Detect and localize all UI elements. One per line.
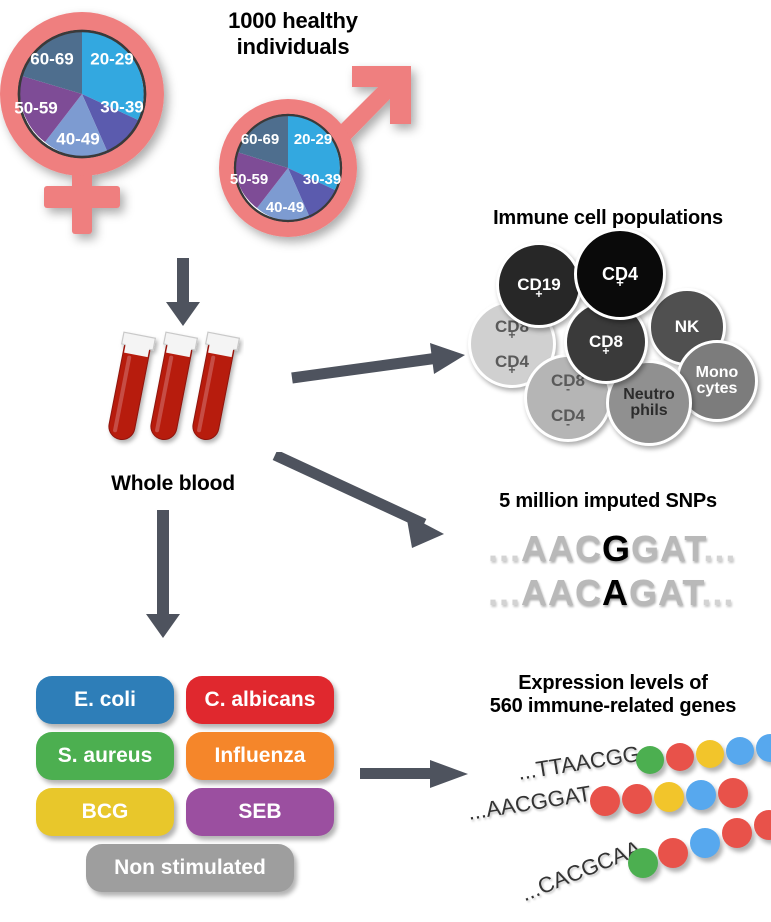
- expression-bead: [696, 740, 724, 768]
- male-pie-label-30-39: 30-39: [303, 171, 341, 188]
- snps-heading: 5 million imputed SNPs: [452, 490, 764, 513]
- immune-cell-label: CD8-CD4-: [551, 372, 585, 424]
- female-symbol: 20-29 30-39 40-49 50-59 60-69: [4, 8, 214, 238]
- snp-leading-dots: ...: [488, 528, 521, 569]
- immune-cell-label: NK: [675, 318, 700, 335]
- snp-right-bases: GAT: [631, 528, 703, 569]
- expression-strand-sequence: ...CACGCAA: [517, 835, 645, 907]
- immune-cell-cd4: CD4+: [574, 228, 666, 320]
- stimulus-c-albicans[interactable]: C. albicans: [186, 676, 334, 724]
- immune-heading: Immune cell populations: [452, 207, 764, 230]
- whole-blood-label: Whole blood: [78, 472, 268, 496]
- male-pie-label-40-49: 40-49: [266, 199, 304, 216]
- expression-bead: [718, 778, 748, 808]
- stimulus-s-aureus[interactable]: S. aureus: [36, 732, 174, 780]
- expression-bead: [686, 780, 716, 810]
- snp-trailing-dots: ...: [703, 528, 736, 569]
- snp-sequence-row-1: ...AACGGAT...: [488, 528, 736, 570]
- expression-bead: [636, 746, 664, 774]
- expression-bead: [666, 743, 694, 771]
- expression-bead: [654, 782, 684, 812]
- immune-cell-label: CD4+: [602, 265, 638, 283]
- expression-strand-3: ...CACGCAA: [530, 824, 770, 904]
- immune-cell-label: Neutrophils: [623, 387, 675, 420]
- expression-bead: [622, 784, 652, 814]
- immune-cell-label: CD8+: [589, 333, 623, 350]
- stimulus-influenza[interactable]: Influenza: [186, 732, 334, 780]
- arrow-down-to-stimuli: [140, 510, 186, 640]
- stimulus-seb[interactable]: SEB: [186, 788, 334, 836]
- stimulus-non-stimulated[interactable]: Non stimulated: [86, 844, 294, 892]
- immune-cell-label: Monocytes: [696, 365, 739, 398]
- male-pie-label-20-29: 20-29: [294, 131, 332, 148]
- snp-sequence-row-2: ...AACAGAT...: [488, 572, 734, 614]
- snp-right-bases: GAT: [629, 572, 701, 613]
- immune-cell-cd19: CD19+: [496, 242, 582, 328]
- expression-bead: [590, 786, 620, 816]
- expression-heading-line-1: Expression levels of: [458, 672, 768, 695]
- blood-tube: [104, 332, 155, 442]
- snp-trailing-dots: ...: [701, 572, 734, 613]
- expression-bead: [690, 828, 720, 858]
- snp-leading-dots: ...: [488, 572, 521, 613]
- expression-bead: [658, 838, 688, 868]
- stimulus-bcg[interactable]: BCG: [36, 788, 174, 836]
- expression-bead: [754, 810, 771, 840]
- arrow-to-expression: [360, 758, 470, 798]
- stimulus-e-coli[interactable]: E. coli: [36, 676, 174, 724]
- female-pie-label-40-49: 40-49: [56, 129, 99, 148]
- expression-bead: [722, 818, 752, 848]
- female-pie-label-50-59: 50-59: [14, 98, 57, 117]
- arrow-down-to-blood: [160, 258, 206, 328]
- expression-bead: [726, 737, 754, 765]
- snp-left-bases: AAC: [521, 528, 602, 569]
- expression-bead: [628, 848, 658, 878]
- male-pie-label-50-59: 50-59: [230, 171, 268, 188]
- immune-cell-label: CD19+: [517, 276, 560, 293]
- arrow-to-snps: [272, 452, 462, 552]
- female-pie-label-20-29: 20-29: [90, 49, 133, 68]
- snp-variant-base: A: [602, 572, 629, 613]
- snp-left-bases: AAC: [521, 572, 602, 613]
- arrow-to-immune-cells: [290, 330, 465, 390]
- expression-heading-line-2: 560 immune-related genes: [458, 695, 768, 718]
- female-pie-label-60-69: 60-69: [30, 49, 73, 68]
- male-pie-label-60-69: 60-69: [241, 131, 279, 148]
- immune-cell-cluster: CD8+CD4+ CD19+ CD4+ NK CD8+ CD8-CD4- Neu…: [468, 242, 768, 422]
- snp-variant-base: G: [602, 528, 631, 569]
- expression-bead: [756, 734, 771, 762]
- immune-cell-label: CD8+CD4+: [495, 318, 529, 370]
- expression-heading: Expression levels of 560 immune-related …: [458, 672, 768, 718]
- male-symbol: 20-29 30-39 40-49 50-59 60-69: [200, 52, 430, 252]
- expression-strand-sequence: ...AACGGAT: [466, 781, 593, 826]
- whole-blood-tubes: [104, 330, 244, 450]
- female-pie-label-30-39: 30-39: [100, 97, 143, 116]
